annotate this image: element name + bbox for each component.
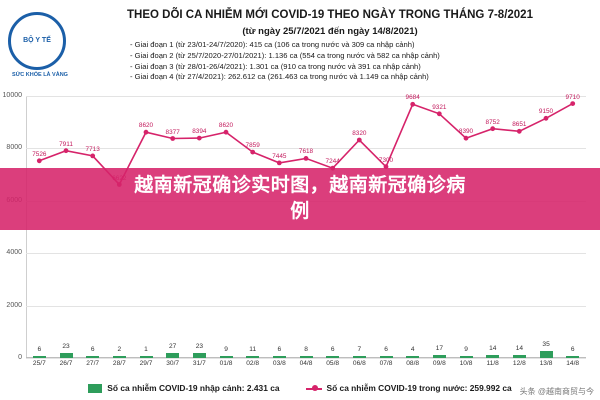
- overlay-banner: 越南新冠确诊实时图，越南新冠确诊病 例: [0, 168, 600, 230]
- page-title: THEO DÕI CA NHIỄM MỚI COVID-19 THEO NGÀY…: [70, 8, 590, 22]
- legend-item-domestic: Số ca nhiễm COVID-19 trong nước: 259.992…: [306, 383, 512, 393]
- legend-label-imported: Số ca nhiễm COVID-19 nhập cảnh: 2.431 ca: [107, 383, 279, 393]
- logo-circle: BỘ Y TẾ: [8, 12, 66, 70]
- watermark: 头条 @越南商贸与今: [520, 386, 594, 397]
- line-point-label: 7713: [86, 146, 100, 153]
- line-point-label: 9710: [566, 94, 580, 101]
- line-point-label: 8620: [139, 122, 153, 129]
- line-point-label: 7526: [32, 151, 46, 158]
- line-point-label: 8377: [166, 129, 180, 136]
- line-point-label: 7445: [272, 153, 286, 160]
- line-point-label: 9321: [432, 104, 446, 111]
- logo-inner-text: BỘ Y TẾ: [23, 37, 51, 44]
- line-point-label: 7300: [379, 157, 393, 164]
- phase-line-2: - Giai đoạn 2 (từ 25/7/2020-27/01/2021):…: [130, 51, 570, 62]
- line-point-label: 7911: [59, 141, 73, 148]
- gridline: [26, 358, 586, 359]
- y-tick-label: 2000: [2, 302, 22, 309]
- legend-swatch-icon-line: [306, 384, 322, 393]
- logo-caption: SỨC KHỎE LÀ VÀNG: [5, 72, 75, 78]
- chart-page: BỘ Y TẾ SỨC KHỎE LÀ VÀNG THEO DÕI CA NHI…: [0, 0, 600, 400]
- legend-swatch-icon-green: [88, 384, 102, 393]
- phase-summary: - Giai đoạn 1 (từ 23/01-24/7/2020): 415 …: [130, 40, 570, 83]
- chart-legend: Số ca nhiễm COVID-19 nhập cảnh: 2.431 ca…: [0, 376, 600, 400]
- page-subtitle: (từ ngày 25/7/2021 đến ngày 14/8/2021): [70, 26, 590, 37]
- line-point-label: 8651: [512, 121, 526, 128]
- line-point-label: 8752: [486, 119, 500, 126]
- line-point-label: 9150: [539, 108, 553, 115]
- line-point-label: 7859: [246, 142, 260, 149]
- phase-line-1: - Giai đoạn 1 (từ 23/01-24/7/2020): 415 …: [130, 40, 570, 51]
- legend-label-domestic: Số ca nhiễm COVID-19 trong nước: 259.992…: [327, 383, 512, 393]
- overlay-line-1: 越南新冠确诊实时图，越南新冠确诊病: [134, 173, 466, 199]
- line-point-label: 8620: [219, 122, 233, 129]
- phase-line-4: - Giai đoạn 4 (từ 27/4/2021): 262.612 ca…: [130, 72, 570, 83]
- legend-item-imported: Số ca nhiễm COVID-19 nhập cảnh: 2.431 ca: [88, 383, 279, 393]
- overlay-line-2: 例: [134, 199, 466, 225]
- y-tick-label: 4000: [2, 249, 22, 256]
- line-point-label: 9684: [406, 94, 420, 101]
- overlay-text: 越南新冠确诊实时图，越南新冠确诊病 例: [134, 173, 466, 224]
- line-point-label: 7618: [299, 148, 313, 155]
- line-point-label: 8390: [459, 128, 473, 135]
- x-tick-label: 14/8: [553, 360, 593, 367]
- y-tick-label: 10000: [2, 92, 22, 99]
- line-point-label: 8394: [192, 128, 206, 135]
- line-point-label: 7244: [326, 158, 340, 165]
- phase-line-3: - Giai đoạn 3 (từ 28/01-26/4/2021): 1.30…: [130, 62, 570, 73]
- y-tick-label: 8000: [2, 144, 22, 151]
- ministry-of-health-logo: BỘ Y TẾ SỨC KHỎE LÀ VÀNG: [8, 12, 70, 80]
- line-point-label: 8320: [352, 130, 366, 137]
